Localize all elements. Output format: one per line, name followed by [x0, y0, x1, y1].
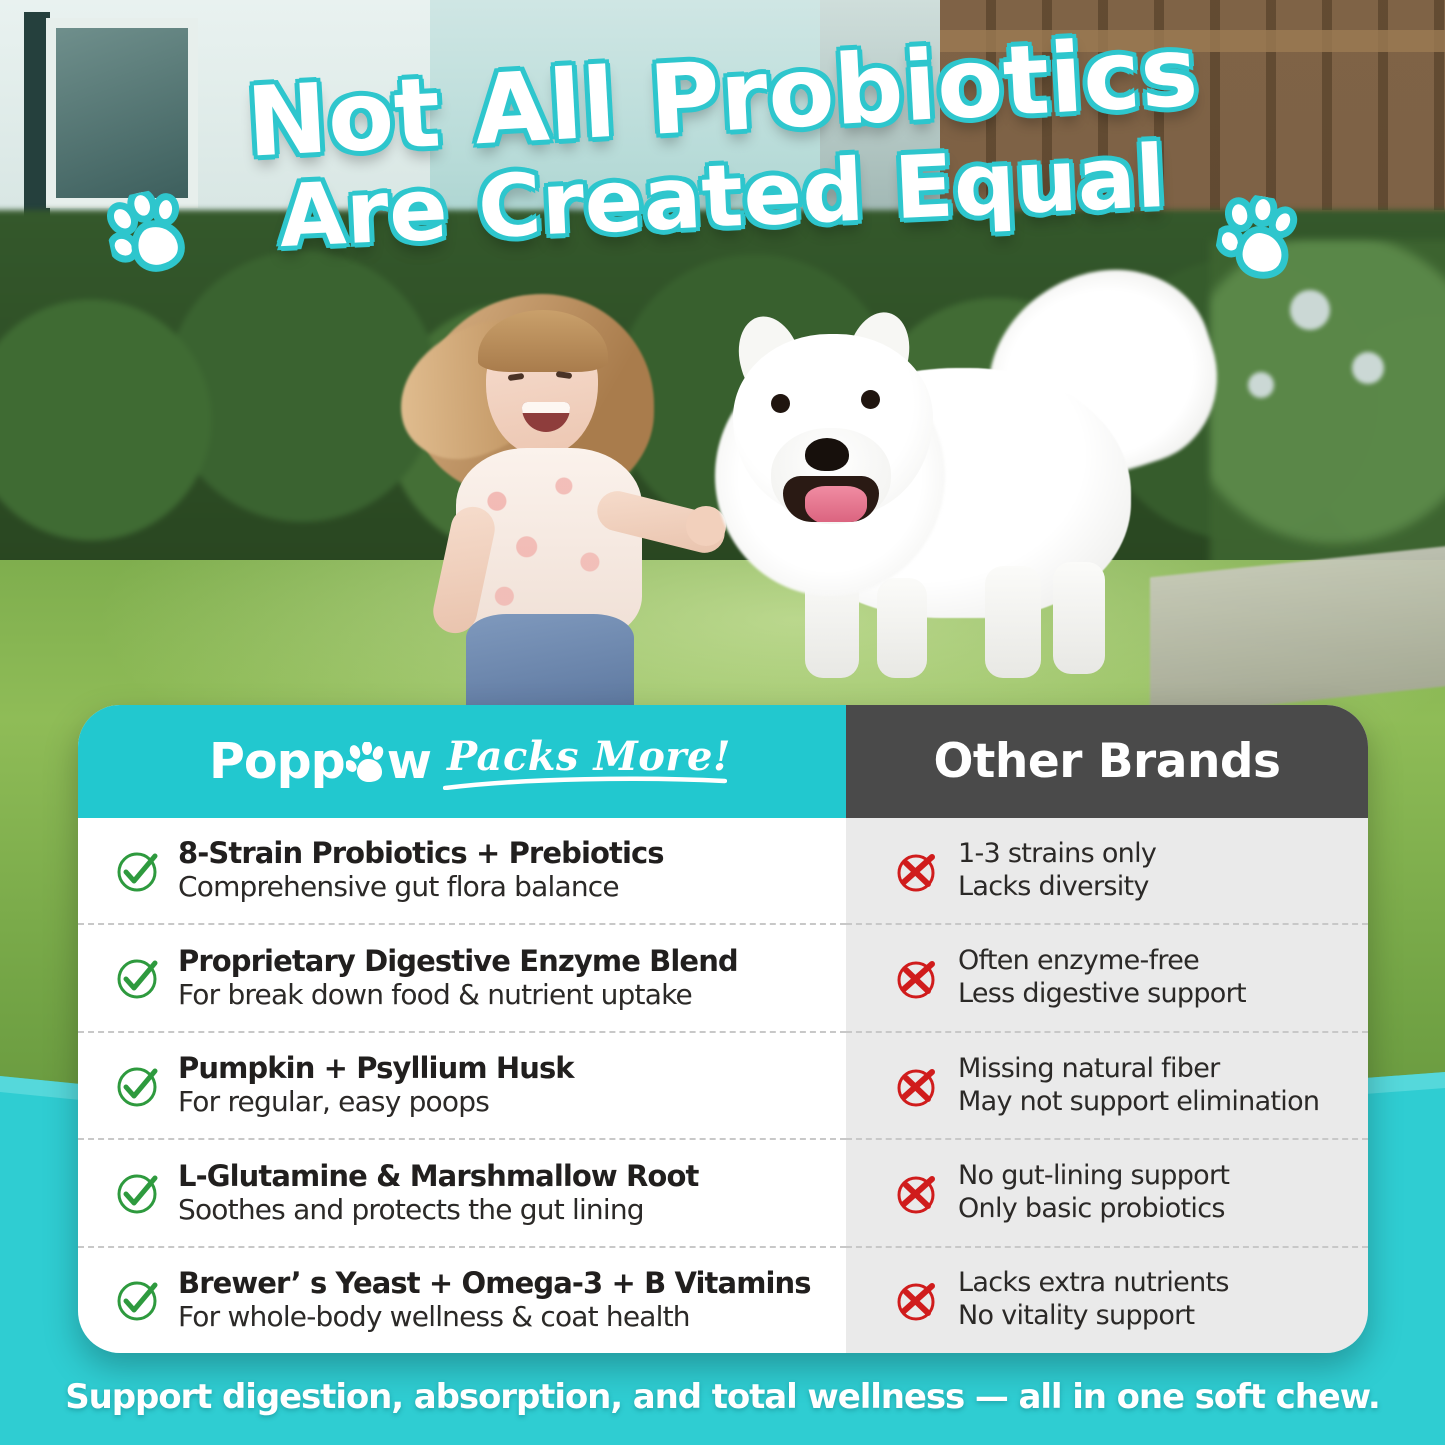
feature-subtitle: For regular, easy poops — [178, 1085, 489, 1118]
other-brand-line-2: Lacks diversity — [958, 871, 1149, 902]
circle-check-icon — [112, 1168, 162, 1218]
table-row: Proprietary Digestive Enzyme Blend For b… — [78, 925, 846, 1032]
footer-text: Support digestion, absorption, and total… — [65, 1377, 1379, 1417]
other-brand-line-1: Often enzyme-free — [958, 945, 1199, 976]
other-brands-title: Other Brands — [933, 734, 1280, 789]
feature-subtitle: For whole-body wellness & coat health — [178, 1300, 690, 1333]
other-brand-line-2: May not support elimination — [958, 1086, 1319, 1117]
photo-dog — [655, 290, 1215, 690]
other-brand-line-2: Only basic probiotics — [958, 1193, 1225, 1224]
poppow-logo: Popp — [209, 733, 431, 790]
circle-check-icon — [112, 846, 162, 896]
circle-cross-icon — [892, 1275, 942, 1325]
poppow-feature-list: 8-Strain Probiotics + Prebiotics Compreh… — [78, 818, 846, 1353]
feature-subtitle: For break down food & nutrient uptake — [178, 978, 692, 1011]
photo-house-window — [46, 18, 198, 208]
other-brand-line-2: Less digestive support — [958, 978, 1246, 1009]
other-brand-line-1: No gut-lining support — [958, 1160, 1229, 1191]
table-row: Lacks extra nutrients No vitality suppor… — [846, 1248, 1368, 1353]
other-brand-line-1: Lacks extra nutrients — [958, 1267, 1229, 1298]
table-row: Brewer’ s Yeast + Omega-3 + B Vitamins F… — [78, 1248, 846, 1353]
table-row: Missing natural fiber May not support el… — [846, 1033, 1368, 1140]
circle-check-icon — [112, 1061, 162, 1111]
table-row: 1-3 strains only Lacks diversity — [846, 818, 1368, 925]
table-row: No gut-lining support Only basic probiot… — [846, 1140, 1368, 1247]
photo-flower — [1290, 290, 1330, 330]
feature-title: L-Glutamine & Marshmallow Root — [178, 1159, 698, 1193]
feature-title: 8-Strain Probiotics + Prebiotics — [178, 836, 664, 870]
other-brand-line-1: Missing natural fiber — [958, 1053, 1220, 1084]
infographic-canvas: Not All Probiotics Are Created Equal — [0, 0, 1445, 1445]
feature-title: Brewer’ s Yeast + Omega-3 + B Vitamins — [178, 1266, 811, 1300]
feature-title: Pumpkin + Psyllium Husk — [178, 1051, 574, 1085]
footer-banner: Support digestion, absorption, and total… — [0, 1368, 1445, 1426]
circle-check-icon — [112, 953, 162, 1003]
other-brands-list: 1-3 strains only Lacks diversity Often e… — [846, 818, 1368, 1353]
other-brands-column-header: Other Brands — [846, 705, 1368, 818]
photo-fence-rail-top — [940, 30, 1445, 52]
comparison-column-other-brands: Other Brands 1-3 strains only Lacks dive… — [846, 705, 1368, 1353]
photo-flower — [1248, 372, 1274, 398]
circle-cross-icon — [892, 846, 942, 896]
circle-cross-icon — [892, 1061, 942, 1111]
circle-cross-icon — [892, 1168, 942, 1218]
brand-text-part1: Popp — [209, 733, 345, 790]
photo-flowering-shrub — [1210, 240, 1445, 570]
paw-print-icon — [100, 185, 193, 281]
comparison-table: Popp — [78, 705, 1368, 1353]
table-row: L-Glutamine & Marshmallow Root Soothes a… — [78, 1140, 846, 1247]
feature-subtitle: Soothes and protects the gut lining — [178, 1193, 644, 1226]
poppow-tagline: Packs More! — [447, 733, 731, 790]
table-row: Pumpkin + Psyllium Husk For regular, eas… — [78, 1033, 846, 1140]
feature-title: Proprietary Digestive Enzyme Blend — [178, 944, 738, 978]
table-row: Often enzyme-free Less digestive support — [846, 925, 1368, 1032]
photo-flower — [1352, 352, 1384, 384]
poppow-column-header: Popp — [78, 705, 846, 818]
table-row: 8-Strain Probiotics + Prebiotics Compreh… — [78, 818, 846, 925]
other-brand-line-1: 1-3 strains only — [958, 838, 1156, 869]
other-brand-line-2: No vitality support — [958, 1300, 1194, 1331]
comparison-column-poppow: Popp — [78, 705, 846, 1353]
feature-subtitle: Comprehensive gut flora balance — [178, 870, 619, 903]
circle-cross-icon — [892, 953, 942, 1003]
brand-text-part2: w — [387, 733, 431, 790]
paw-print-icon — [346, 739, 386, 781]
underline-swoosh-icon — [443, 776, 727, 790]
circle-check-icon — [112, 1275, 162, 1325]
paw-print-icon — [1211, 190, 1302, 284]
